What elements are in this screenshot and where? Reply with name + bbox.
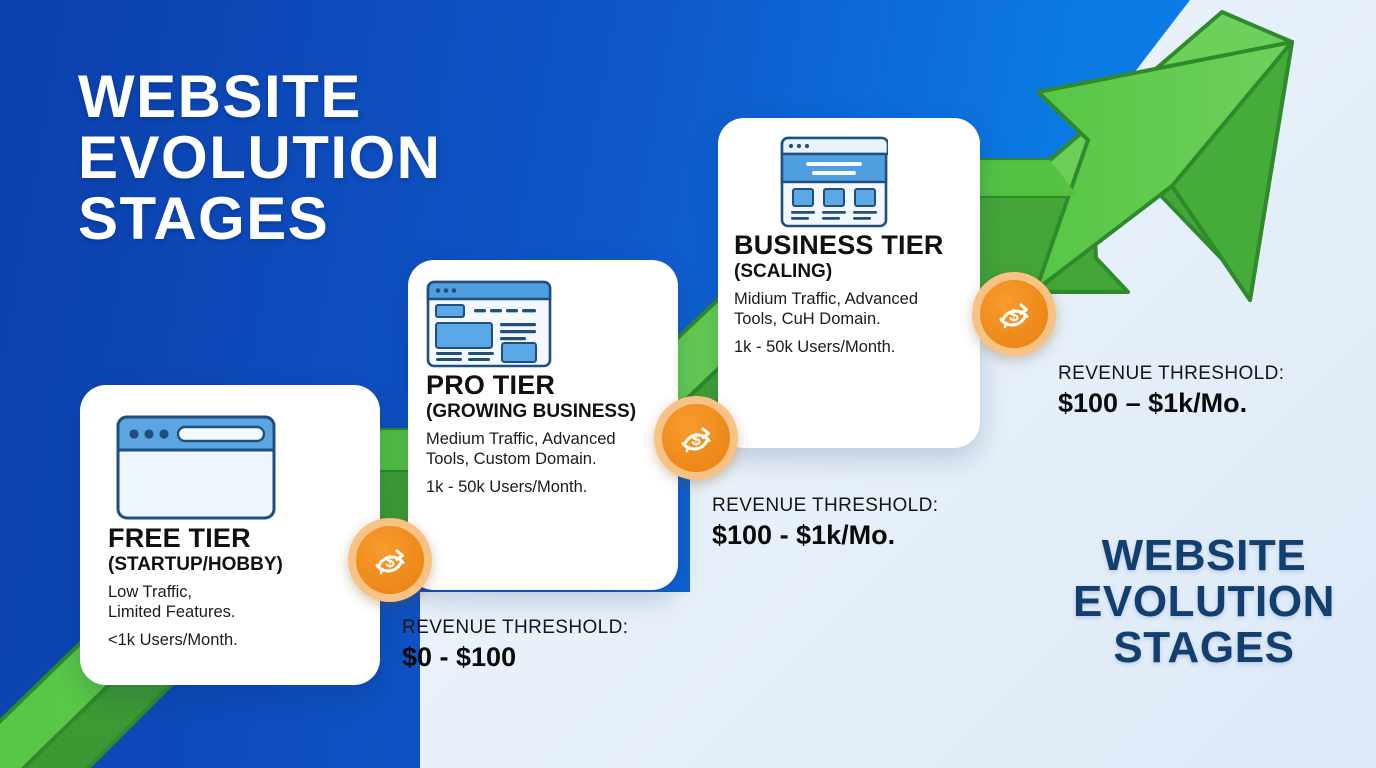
tier-desc-line-2: Limited Features. xyxy=(108,602,356,622)
revenue-coin-badge-2[interactable]: $ xyxy=(654,396,738,480)
revenue-threshold-value: $0 - $100 xyxy=(402,642,628,673)
revenue-threshold-label: REVENUE THRESHOLD: xyxy=(1058,363,1284,385)
page-title-line-3: STAGES xyxy=(78,188,442,249)
tier-subtitle: (SCALING) xyxy=(734,261,956,282)
page-title: WEBSITE EVOLUTION STAGES xyxy=(78,66,442,250)
footer-wordmark-line-1: WEBSITE xyxy=(1058,533,1350,579)
tier-card-business-text: BUSINESS TIER (SCALING) Midium Traffic, … xyxy=(718,230,980,357)
browser-window-layout-icon xyxy=(426,280,552,373)
svg-text:$: $ xyxy=(691,430,701,449)
tier-card-pro-text: PRO TIER (GROWING BUSINESS) Medium Traff… xyxy=(408,370,678,497)
tier-desc-line-1: Midium Traffic, Advanced xyxy=(734,289,956,309)
svg-text:$: $ xyxy=(1009,306,1019,325)
tier-card-pro[interactable]: PRO TIER (GROWING BUSINESS) Medium Traff… xyxy=(408,260,678,590)
svg-text:$: $ xyxy=(385,552,395,571)
footer-wordmark-line-3: STAGES xyxy=(1058,625,1350,671)
footer-wordmark-line-2: EVOLUTION xyxy=(1058,579,1350,625)
revenue-coin-badge-3[interactable]: $ xyxy=(972,272,1056,356)
revenue-threshold-value: $100 - $1k/Mo. xyxy=(712,520,938,551)
tier-title: FREE TIER xyxy=(108,523,356,553)
tier-subtitle: (GROWING BUSINESS) xyxy=(426,401,654,422)
infographic-canvas: FREE TIER (STARTUP/HOBBY) Low Traffic, L… xyxy=(0,0,1376,768)
revenue-threshold-1: REVENUE THRESHOLD: $0 - $100 xyxy=(402,617,628,673)
tier-subtitle: (STARTUP/HOBBY) xyxy=(108,554,356,575)
tier-users: 1k - 50k Users/Month. xyxy=(734,337,956,357)
tier-card-free[interactable]: FREE TIER (STARTUP/HOBBY) Low Traffic, L… xyxy=(80,385,380,685)
tier-desc-line-2: Tools, Custom Domain. xyxy=(426,449,654,469)
tier-title: BUSINESS TIER xyxy=(734,230,956,260)
footer-wordmark: WEBSITE EVOLUTION STAGES xyxy=(1058,533,1350,670)
revenue-coin-badge-1[interactable]: $ xyxy=(348,518,432,602)
browser-window-simple-icon xyxy=(116,415,276,525)
revenue-threshold-3: REVENUE THRESHOLD: $100 – $1k/Mo. xyxy=(1058,363,1284,419)
revenue-threshold-label: REVENUE THRESHOLD: xyxy=(712,495,938,517)
tier-desc-line-1: Low Traffic, xyxy=(108,582,356,602)
recurring-revenue-dollar-icon: $ xyxy=(662,404,730,472)
tier-desc-line-1: Medium Traffic, Advanced xyxy=(426,429,654,449)
revenue-threshold-value: $100 – $1k/Mo. xyxy=(1058,388,1284,419)
tier-card-business[interactable]: BUSINESS TIER (SCALING) Midium Traffic, … xyxy=(718,118,980,448)
tier-title: PRO TIER xyxy=(426,370,654,400)
revenue-threshold-label: REVENUE THRESHOLD: xyxy=(402,617,628,639)
tier-desc-line-2: Tools, CuH Domain. xyxy=(734,309,956,329)
tier-users: 1k - 50k Users/Month. xyxy=(426,477,654,497)
revenue-threshold-2: REVENUE THRESHOLD: $100 - $1k/Mo. xyxy=(712,495,938,551)
recurring-revenue-dollar-icon: $ xyxy=(356,526,424,594)
tier-card-free-text: FREE TIER (STARTUP/HOBBY) Low Traffic, L… xyxy=(80,523,380,650)
tier-users: <1k Users/Month. xyxy=(108,630,356,650)
page-title-line-2: EVOLUTION xyxy=(78,127,442,188)
page-title-line-1: WEBSITE xyxy=(78,66,442,127)
recurring-revenue-dollar-icon: $ xyxy=(980,280,1048,348)
browser-window-hero-columns-icon xyxy=(780,136,888,233)
